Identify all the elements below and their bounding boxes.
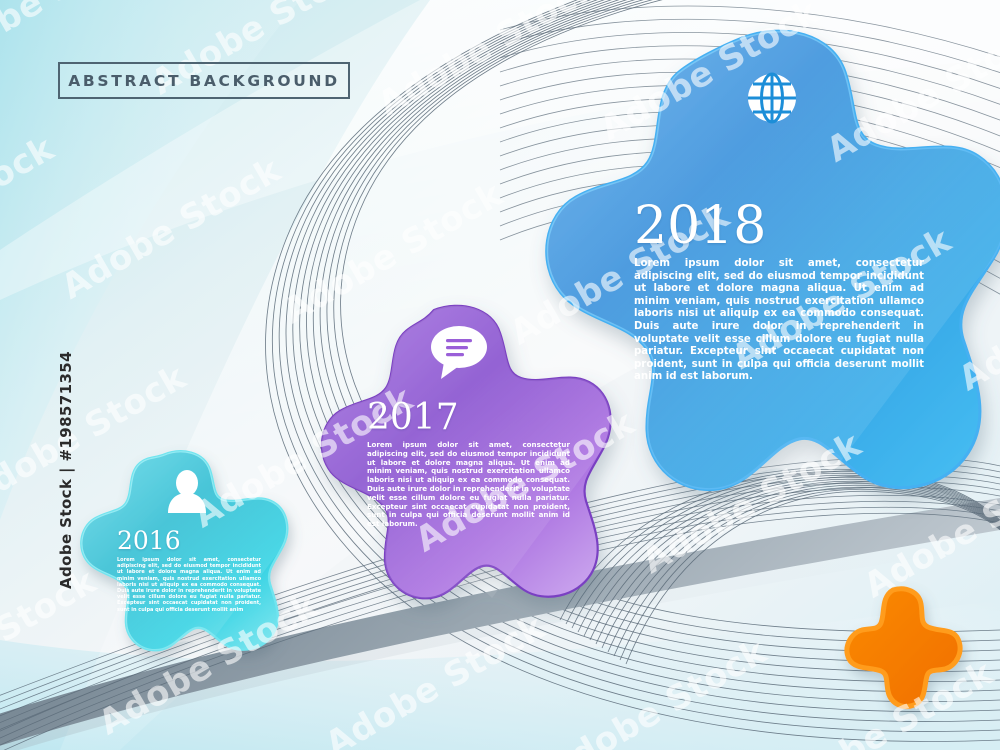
- card-text-2018: 2018 Lorem ipsum dolor sit amet, consect…: [634, 200, 924, 384]
- card-body-2018: Lorem ipsum dolor sit amet, consectetur …: [634, 258, 924, 384]
- poster-canvas: Adobe StockAdobe StockAdobe StockAdobe S…: [0, 0, 1000, 750]
- card-year-2016: 2016: [117, 528, 261, 553]
- card-body-2017: Lorem ipsum dolor sit amet, consectetur …: [367, 441, 570, 529]
- card-year-2018: 2018: [634, 200, 924, 252]
- card-text-2016: 2016 Lorem ipsum dolor sit amet, consect…: [117, 528, 261, 613]
- page-title: ABSTRACT BACKGROUND: [68, 72, 340, 90]
- card-text-2017: 2017 Lorem ipsum dolor sit amet, consect…: [367, 400, 570, 529]
- card-year-2017: 2017: [367, 400, 570, 436]
- card-body-2016: Lorem ipsum dolor sit amet, consectetur …: [117, 557, 261, 613]
- page-title-badge: ABSTRACT BACKGROUND: [58, 62, 350, 99]
- orange-blob: [847, 589, 960, 707]
- stock-credit-label: Adobe Stock | #198571354: [57, 369, 75, 589]
- globe-icon: [748, 74, 796, 122]
